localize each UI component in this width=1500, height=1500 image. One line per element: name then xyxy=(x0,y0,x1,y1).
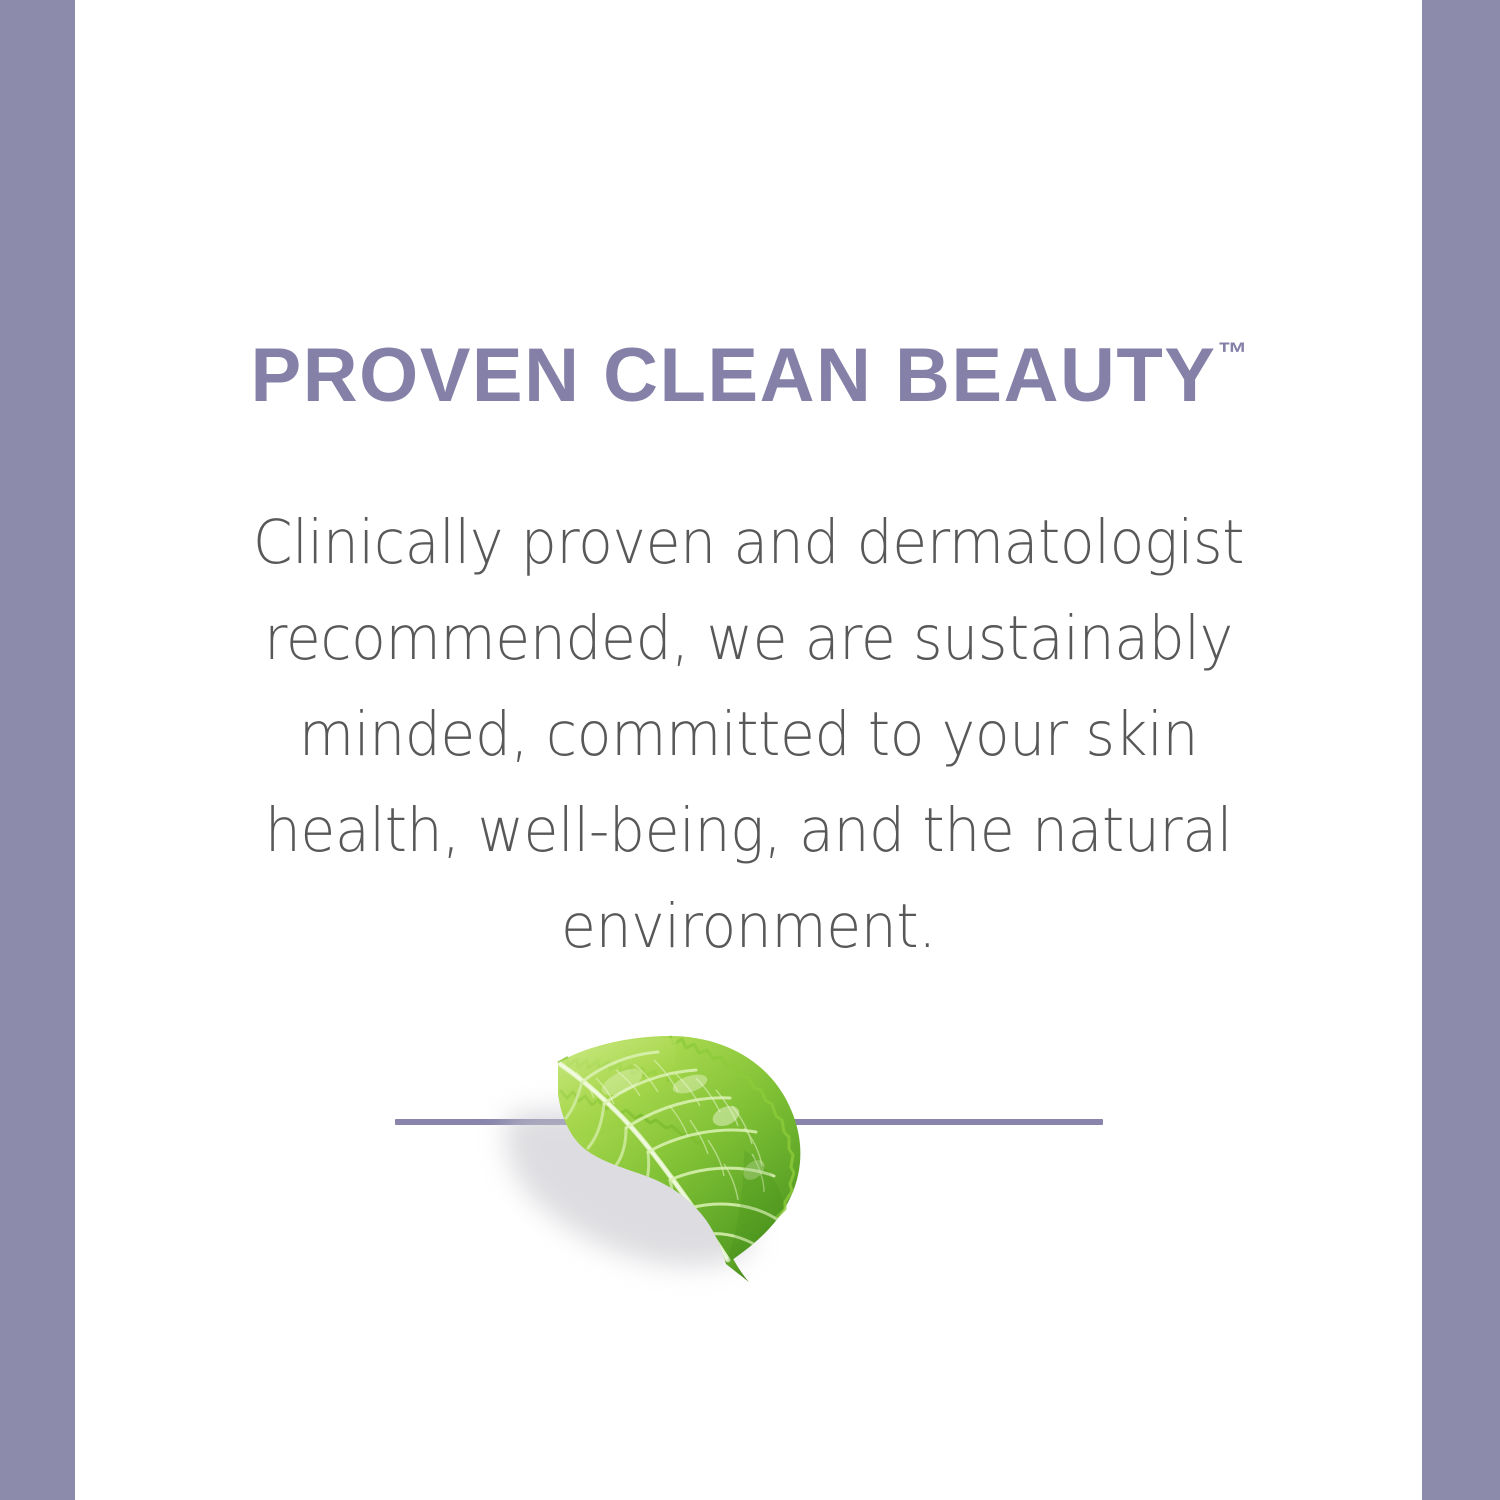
body-paragraph: Clinically proven and dermatologist reco… xyxy=(234,495,1264,975)
leaf-divider-emblem xyxy=(75,1020,1422,1340)
page-title: PROVEN CLEAN BEAUTY™ xyxy=(75,338,1422,414)
right-purple-border xyxy=(1422,0,1500,1500)
promo-panel: PROVEN CLEAN BEAUTY™ Clinically proven a… xyxy=(0,0,1500,1500)
trademark-symbol: ™ xyxy=(1217,337,1247,370)
green-leaf-icon xyxy=(530,1020,880,1280)
content-card: PROVEN CLEAN BEAUTY™ Clinically proven a… xyxy=(75,0,1422,1500)
left-purple-border xyxy=(0,0,75,1500)
leaf-graphic xyxy=(530,1020,880,1280)
page-title-text: PROVEN CLEAN BEAUTY xyxy=(251,333,1217,418)
